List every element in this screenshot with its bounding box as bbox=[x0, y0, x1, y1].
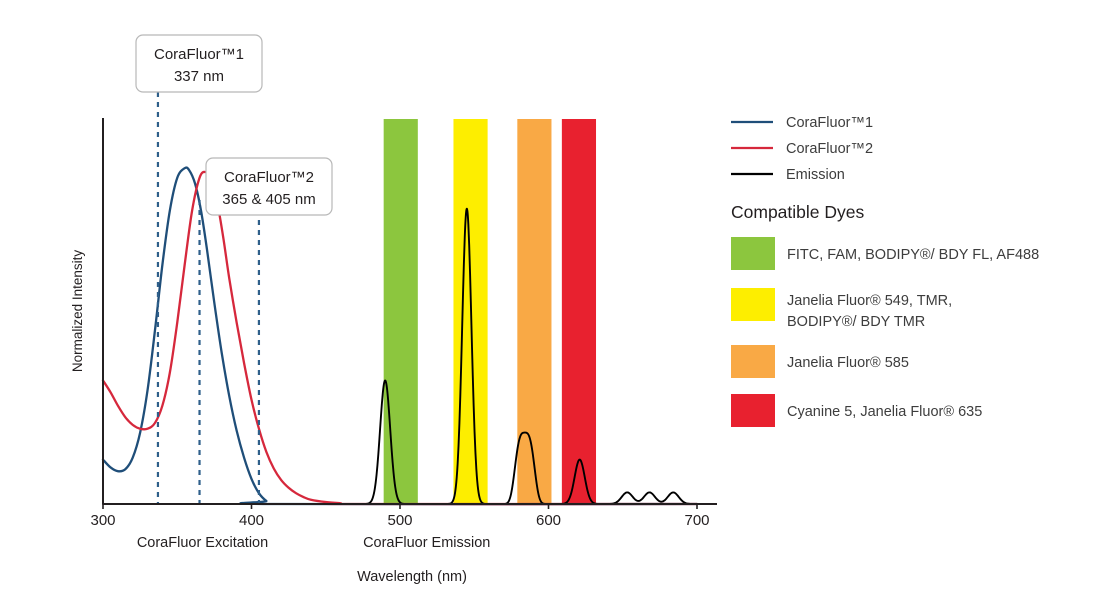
legend-label-2: CoraFluor™2 bbox=[786, 141, 873, 157]
legend: CoraFluor™1CoraFluor™2Emission bbox=[731, 115, 873, 183]
y-axis-title: Normalized Intensity bbox=[70, 250, 85, 373]
dye-label-2-line1: Janelia Fluor® 549, TMR, bbox=[787, 293, 952, 309]
callout-line1-2: CoraFluor™2 bbox=[224, 169, 314, 186]
callout-2[interactable]: CoraFluor™2365 & 405 nm bbox=[206, 158, 332, 215]
region-label-2: CoraFluor Emission bbox=[363, 535, 490, 551]
x-tick-label-400: 400 bbox=[239, 512, 264, 529]
callout-line1-1: CoraFluor™1 bbox=[154, 46, 244, 63]
dye-label-1: FITC, FAM, BODIPY®/ BDY FL, AF488 bbox=[787, 247, 1039, 263]
x-axis-title: Wavelength (nm) bbox=[357, 569, 467, 585]
legend-label-3: Emission bbox=[786, 167, 845, 183]
callout-line2-1: 337 nm bbox=[174, 68, 224, 85]
emission-filter-bands bbox=[384, 119, 596, 504]
callout-line2-2: 365 & 405 nm bbox=[222, 191, 315, 208]
x-tick-label-500: 500 bbox=[387, 512, 412, 529]
compatible-dyes-title: Compatible Dyes bbox=[731, 202, 864, 222]
dye-swatch-4 bbox=[731, 394, 775, 427]
dye-swatch-1 bbox=[731, 237, 775, 270]
dye-label-3: Janelia Fluor® 585 bbox=[787, 355, 909, 371]
callouts: CoraFluor™1337 nmCoraFluor™2365 & 405 nm bbox=[136, 35, 332, 215]
legend-label-1: CoraFluor™1 bbox=[786, 115, 873, 131]
x-tick-label-300: 300 bbox=[90, 512, 115, 529]
compatible-dyes-panel: Compatible DyesFITC, FAM, BODIPY®/ BDY F… bbox=[731, 202, 1039, 427]
x-tick-label-600: 600 bbox=[536, 512, 561, 529]
callout-1[interactable]: CoraFluor™1337 nm bbox=[136, 35, 262, 92]
x-tick-label-700: 700 bbox=[684, 512, 709, 529]
dye-swatch-3 bbox=[731, 345, 775, 378]
region-label-1: CoraFluor Excitation bbox=[137, 535, 268, 551]
dye-swatch-2 bbox=[731, 288, 775, 321]
excitation-marker-lines bbox=[158, 92, 259, 504]
green-band bbox=[384, 119, 418, 504]
red-band bbox=[562, 119, 596, 504]
spectra-figure: 300400500600700Normalized IntensityWavel… bbox=[0, 0, 1110, 612]
dye-label-4: Cyanine 5, Janelia Fluor® 635 bbox=[787, 404, 982, 420]
orange-band bbox=[517, 119, 551, 504]
chart-svg: 300400500600700Normalized IntensityWavel… bbox=[0, 0, 1110, 612]
dye-label-2-line2: BODIPY®/ BDY TMR bbox=[787, 314, 925, 330]
